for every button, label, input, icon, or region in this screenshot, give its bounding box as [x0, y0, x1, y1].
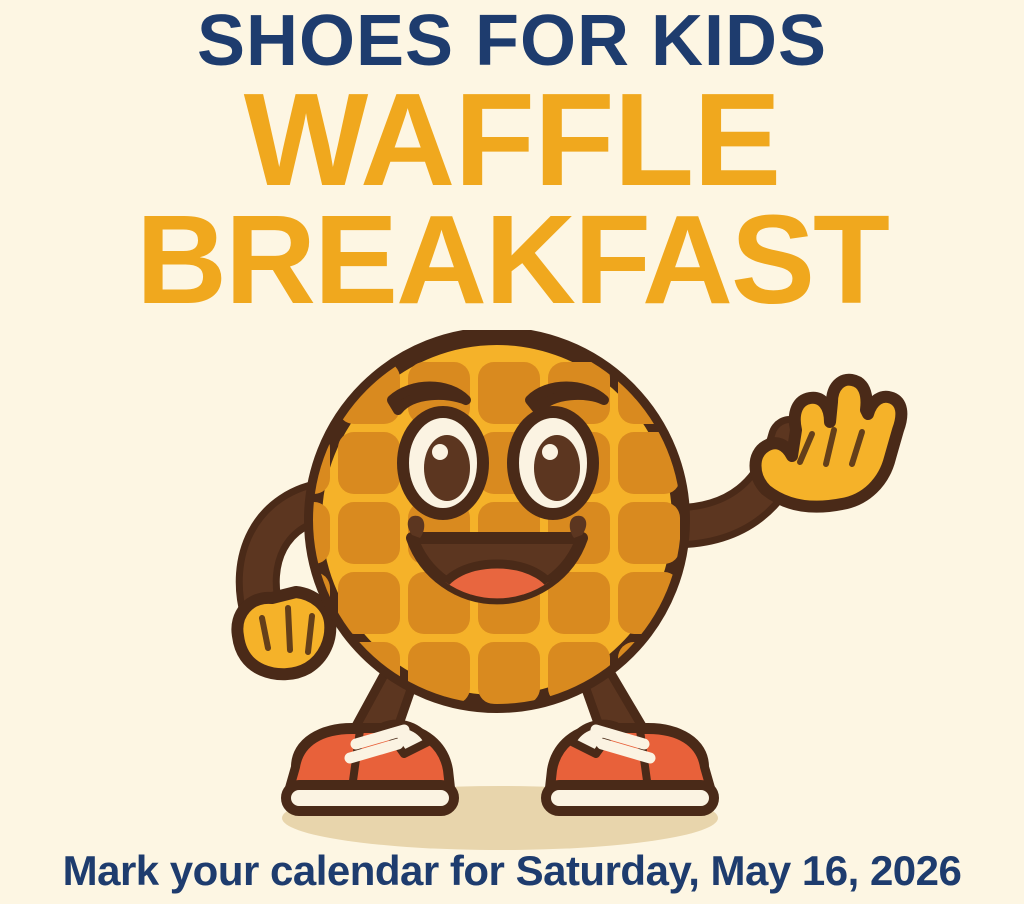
headline-line-breakfast: BREAKFAST: [0, 200, 1024, 320]
left-hand-icon: [237, 592, 330, 674]
waffle-mascot-illustration: [0, 330, 1024, 850]
waffle-body: [268, 336, 750, 704]
left-eye-icon: [403, 412, 483, 514]
headline-block: SHOES FOR KIDS WAFFLE BREAKFAST: [0, 0, 1024, 320]
headline-line-waffle: WAFFLE: [0, 80, 1024, 200]
poster-canvas: SHOES FOR KIDS WAFFLE BREAKFAST: [0, 0, 1024, 904]
left-shoe: [286, 724, 454, 811]
right-hand-waving-icon: [756, 380, 902, 507]
event-date-text: Mark your calendar for Saturday, May 16,…: [0, 846, 1024, 896]
right-eye-icon: [513, 412, 593, 514]
right-shoe: [546, 724, 714, 811]
